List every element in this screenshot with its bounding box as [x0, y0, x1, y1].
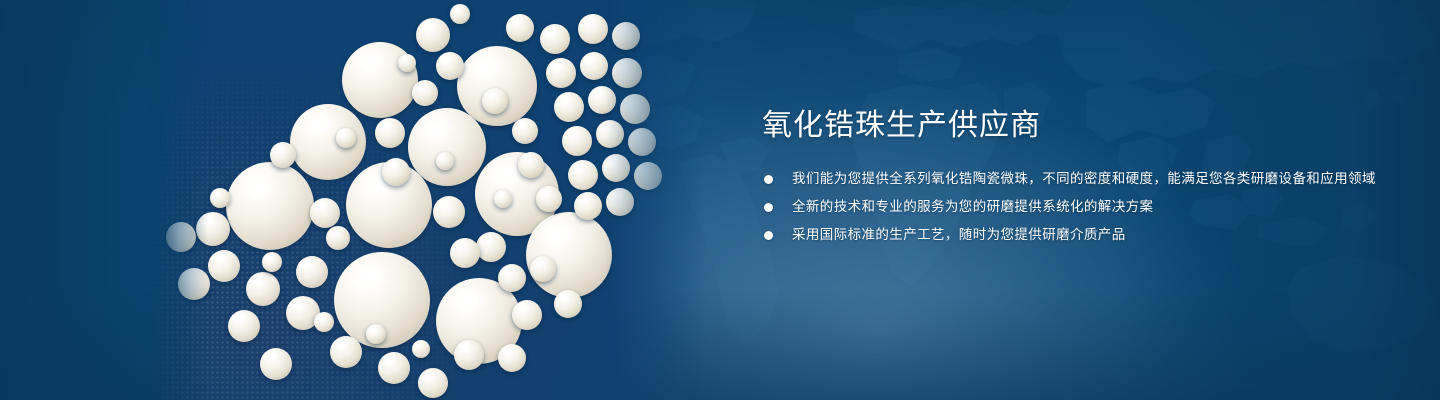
bead: [226, 162, 314, 250]
bead: [270, 142, 296, 168]
bead: [416, 18, 450, 52]
bead: [296, 256, 328, 288]
bead: [436, 152, 454, 170]
bead: [314, 312, 334, 332]
bead: [512, 300, 542, 330]
bead: [554, 290, 582, 318]
bead: [450, 238, 480, 268]
bead: [628, 128, 656, 156]
bead: [378, 352, 410, 384]
bead: [562, 126, 592, 156]
list-item: 我们能为您提供全系列氧化锆陶瓷微珠，不同的密度和硬度，能满足您各类研磨设备和应用…: [762, 168, 1402, 190]
bullet-dot-icon: [764, 231, 773, 240]
bead: [228, 310, 260, 342]
bead: [166, 222, 196, 252]
list-item-text: 全新的技术和专业的服务为您的研磨提供系统化的解决方案: [792, 199, 1153, 214]
bead: [482, 88, 508, 114]
list-item: 全新的技术和专业的服务为您的研磨提供系统化的解决方案: [762, 196, 1402, 218]
bead: [506, 14, 534, 42]
bead: [246, 272, 280, 306]
bead: [382, 158, 410, 186]
bead: [326, 226, 350, 250]
list-item-text: 我们能为您提供全系列氧化锆陶瓷微珠，不同的密度和硬度，能满足您各类研磨设备和应用…: [792, 171, 1376, 186]
bead: [588, 86, 616, 114]
bead: [436, 52, 464, 80]
page-title: 氧化锆珠生产供应商: [762, 106, 1402, 146]
bead: [494, 190, 512, 208]
bead: [196, 212, 230, 246]
bead: [366, 324, 386, 344]
bead: [210, 188, 230, 208]
bead: [310, 198, 340, 228]
bead: [336, 128, 356, 148]
bead: [412, 340, 430, 358]
zirconia-beads-photo: [150, 0, 710, 400]
bead: [578, 14, 608, 44]
bead: [178, 268, 210, 300]
bullet-dot-icon: [764, 175, 773, 184]
bullet-dot-icon: [764, 203, 773, 212]
bead: [580, 52, 608, 80]
bead: [476, 232, 506, 262]
bead: [450, 4, 470, 24]
banner-content: 氧化锆珠生产供应商 我们能为您提供全系列氧化锆陶瓷微珠，不同的密度和硬度，能满足…: [762, 106, 1402, 252]
bead: [554, 92, 584, 122]
hero-banner: 氧化锆珠生产供应商 我们能为您提供全系列氧化锆陶瓷微珠，不同的密度和硬度，能满足…: [0, 0, 1440, 400]
bead: [208, 250, 240, 282]
bead: [398, 54, 416, 72]
bead: [260, 348, 292, 380]
bead: [540, 24, 570, 54]
bead: [612, 58, 642, 88]
bead: [596, 120, 624, 148]
bead: [433, 196, 465, 228]
bead: [518, 152, 544, 178]
bead: [546, 58, 576, 88]
bead: [498, 344, 526, 372]
bead: [574, 192, 602, 220]
bead: [612, 22, 640, 50]
bead: [620, 94, 650, 124]
bead: [418, 368, 448, 398]
bead: [454, 340, 484, 370]
list-item: 采用国际标准的生产工艺，随时为您提供研磨介质产品: [762, 224, 1402, 246]
feature-list: 我们能为您提供全系列氧化锆陶瓷微珠，不同的密度和硬度，能满足您各类研磨设备和应用…: [762, 168, 1402, 246]
bead: [568, 160, 598, 190]
bead: [330, 336, 362, 368]
bead: [602, 154, 630, 182]
list-item-text: 采用国际标准的生产工艺，随时为您提供研磨介质产品: [792, 227, 1126, 242]
bead: [375, 118, 405, 148]
bead: [498, 264, 526, 292]
bead: [412, 80, 438, 106]
bead: [512, 118, 538, 144]
bead: [526, 212, 612, 298]
bead: [530, 256, 556, 282]
bead: [634, 162, 662, 190]
bead: [262, 252, 282, 272]
bead: [606, 188, 634, 216]
bead: [536, 186, 562, 212]
